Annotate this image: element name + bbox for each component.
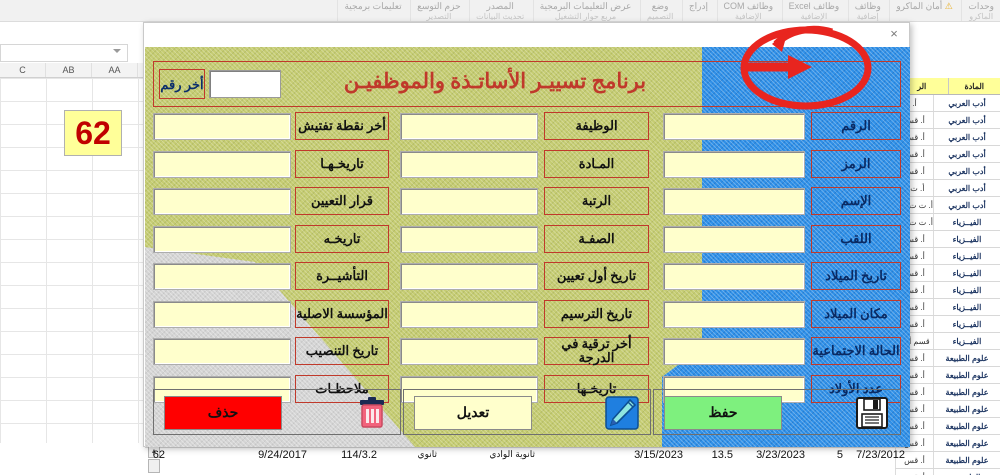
table-row[interactable]: أدب العربيأ. قس [895,112,1000,129]
cell-subject: علوم الطبيعة [933,350,1000,366]
cell-subject: الفيــزياء [933,316,1000,332]
excel-right-columns[interactable]: المادة الر أدب العربيأ.أدب العربيأ. قسأد… [895,78,1000,475]
input-الوظيفة[interactable] [400,113,538,140]
input-تاريخ-أول-تعيين[interactable] [400,263,538,290]
cell-subject: الفيــزياء [933,299,1000,315]
ribbon-group[interactable]: المصدر تحديث البيانات [469,0,530,22]
input-الرمز[interactable] [663,151,805,178]
table-row[interactable]: الفيــزياءقسم أول [895,333,1000,350]
cell-subject: أدب العربي [933,197,1000,213]
dialog-form-area: برنامج تسييـر الأساتـذة والموظفيـن أخر ر… [145,47,910,447]
warning-icon: ⚠ [945,1,953,11]
table-row[interactable]: الفيــزياءأ. قس [895,282,1000,299]
table-row[interactable]: الفيــزياءأ. قس [895,265,1000,282]
ribbon-label: عرض التعليمات البرمجية [540,1,632,12]
ribbon-sublabel: تحديث البيانات [476,12,524,22]
chevron-down-icon[interactable] [113,49,121,53]
ribbon-group[interactable]: وحدات الماكرو [961,0,1000,22]
ribbon-label: وضع [647,1,673,12]
ribbon-sublabel: الماكرو [968,12,994,22]
input-مكان-الميلاد[interactable] [663,301,805,328]
form-row: الرقمالوظيفةأخر نقطة تفتيش [145,109,910,147]
input-أخر-نقطة-تفتيش[interactable] [153,113,291,140]
label-تاريخ-أول-تعيين: تاريخ أول تعيين [544,262,649,290]
input-قرار-التعيين[interactable] [153,188,291,215]
label-مكان-الميلاد: مكان الميلاد [811,300,901,328]
ribbon-label: وظائف COM [724,1,774,12]
column-header-subject: المادة [948,78,1000,94]
label-الرتبة: الرتبة [544,187,649,215]
ribbon-sublabel: مربع حوار التشغيل [540,12,632,22]
table-row[interactable]: أدب العربيأ. ت د [895,180,1000,197]
cell-subject: أدب العربي [933,112,1000,128]
page-title: برنامج تسييـر الأساتـذة والموظفيـن [260,69,730,94]
table-row[interactable]: الفيــزياءأ. قس [895,248,1000,265]
cell-subject: الفيــزياء [933,214,1000,230]
cell-subject: أدب العربي [933,129,1000,145]
cell-subject: الفيــزياء [933,248,1000,264]
label-التأشيــرة: التأشيــرة [295,262,389,290]
table-row[interactable]: أدب العربيأ. ت ت قس [895,197,1000,214]
label-الصفـة: الصفـة [544,225,649,253]
ribbon-label: وظائف [855,1,881,12]
cell-subject: أدب العربي [933,95,1000,111]
table-row[interactable]: علوم الطبيعةأ. قس [895,418,1000,435]
cell-subject: علوم الطبيعة [933,401,1000,417]
close-icon[interactable]: × [885,26,903,42]
edit-panel: تعديل [403,389,651,435]
column-header[interactable]: AA [92,63,138,77]
input-الصفـة[interactable] [400,226,538,253]
highlighted-cell[interactable]: 62 [64,110,122,156]
label-تاريخ-الميلاد: تاريخ الميلاد [811,262,901,290]
input-الرتبة[interactable] [400,188,538,215]
cell-subject: علوم الطبيعة [933,435,1000,451]
label-تاريخـهـا: تاريخـهـا [295,150,389,178]
employee-management-dialog: × برنامج تسييـر الأساتـذة والموظفيـن أخر… [143,22,910,447]
label-الإسم: الإسم [811,187,901,215]
ribbon-sublabel: الإضافية [724,12,774,22]
label-الرقم: الرقم [811,112,901,140]
last-number-label: أخر رقم [159,69,205,99]
cell-code: 114/3.2 [341,449,377,461]
delete-button[interactable]: حذف [164,396,282,430]
ribbon-label-with-warning: ⚠ أمان الماكرو [896,1,953,12]
ribbon-sublabel: إضافية [855,12,881,22]
input-الحالة-الاجتماعية[interactable] [663,338,805,365]
table-row[interactable]: علوم الطبيعةأ. قس [895,435,1000,452]
ribbon-sublabel: التصميم [647,12,673,22]
cell-subject: أدب العربي [933,163,1000,179]
edit-button[interactable]: تعديل [414,396,532,430]
cell-subject: علوم الطبيعة [933,418,1000,434]
table-row[interactable]: علوم الطبيعةأ. قس [895,367,1000,384]
ribbon-label: حزم التوسع [417,1,461,12]
ribbon-label: وحدات [968,1,994,12]
cell-subject: الفيــزياء [933,231,1000,247]
delete-panel: حذف [153,389,401,435]
ribbon-label: وظائف Excel [789,1,840,12]
table-row[interactable]: علوم الطبيعةأ. قس [895,401,1000,418]
cell-code: أ. قس [895,469,933,475]
cell-subject: الفيــزياء [933,333,1000,349]
label-اللقب: اللقب [811,225,901,253]
input-الإسم[interactable] [663,188,805,215]
trash-icon[interactable] [354,395,390,431]
ribbon-group[interactable]: وظائف COM الإضافية [717,0,780,22]
cell-score: 13.5 [712,449,733,461]
form-row: تاريخ الميلادتاريخ أول تعيينالتأشيــرة [145,259,910,297]
label-المـادة: المـادة [544,150,649,178]
cell-id: 62 [153,449,165,461]
label-تاريخ-الترسيم: تاريخ الترسيم [544,300,649,328]
ribbon-group[interactable]: عرض التعليمات البرمجية مربع حوار التشغيل [533,0,638,22]
label-أخر-نقطة-تفتيش: أخر نقطة تفتيش [295,112,389,140]
ribbon-group[interactable]: إدراج [682,0,714,22]
table-body: أدب العربيأ.أدب العربيأ. قسأدب العربيأ. … [895,95,1000,475]
cell-subject: علوم الطبيعة [933,384,1000,400]
save-button[interactable]: حفظ [664,396,782,430]
excel-name-box[interactable] [0,44,128,62]
excel-ribbon: وحدات الماكرو ⚠ أمان الماكرو وظائف إضافي… [0,0,1000,22]
form-row: مكان الميلادتاريخ الترسيمالمؤسسة الاصلية [145,297,910,335]
ribbon-group[interactable]: وضع التصميم [640,0,679,22]
ribbon-sublabel: التصدير [417,12,461,22]
table-row[interactable]: الفيــزياءأ. قس [895,299,1000,316]
input-تاريخ-الميلاد[interactable] [663,263,805,290]
table-row[interactable]: أدب العربيأ. [895,95,1000,112]
cell-date-2: 3/15/2023 [634,449,683,461]
cell-date-1: 9/24/2017 [258,449,307,461]
ribbon-label: تعليمات برمجية [344,1,401,12]
ribbon-group[interactable]: وظائف Excel الإضافية [782,0,846,22]
excel-bottom-row[interactable]: 62 9/24/2017 114/3.2 ثانوي ثانوية الوادي… [145,447,905,469]
label-تاريخـه: تاريخـه [295,225,389,253]
cell-date-3: 3/23/2023 [756,449,805,461]
label-الحالة-الاجتماعية: الحالة الاجتماعية [811,337,901,365]
table-row[interactable]: الفيــزياءأ. قس [895,316,1000,333]
ribbon-label: إدراج [689,1,708,12]
column-header[interactable]: AB [46,63,92,77]
ribbon-group[interactable]: تعليمات برمجية [337,0,407,22]
table-row[interactable]: أدب العربيأ. قس [895,129,1000,146]
column-header[interactable]: C [0,63,46,77]
input-التأشيــرة[interactable] [153,263,291,290]
cell-subject: علوم الطبيعة [933,452,1000,468]
dialog-title-bar: × [144,23,909,47]
cell-count: 5 [837,449,843,461]
input-اللقب[interactable] [663,226,805,253]
label-تاريخ-التنصيب: تاريخ التنصيب [295,337,389,365]
cell-subject: علوم الطبيعة [933,367,1000,383]
table-header-row: المادة الر [895,78,1000,95]
input-تاريخـهـا[interactable] [153,151,291,178]
label-الرمز: الرمز [811,150,901,178]
table-row[interactable]: الفلسفةأ. قس [895,469,1000,475]
last-number-input[interactable] [209,70,281,98]
label-المؤسسة-الاصلية: المؤسسة الاصلية [295,300,389,328]
input-أخر-ترقية-في-الدرجة[interactable] [400,338,538,365]
form-row: الحالة الاجتماعيةأخر ترقية في الدرجةتاري… [145,334,910,372]
cell-school: ثانوية الوادي [489,449,535,460]
ribbon-group[interactable]: ⚠ أمان الماكرو [889,0,959,22]
form-row: الإسمالرتبةقرار التعيين [145,184,910,222]
table-row[interactable]: علوم الطبيعةأ. قس [895,452,1000,469]
table-row[interactable]: علوم الطبيعةأ. قس [895,350,1000,367]
ribbon-group[interactable]: وظائف إضافية [848,0,887,22]
cell-subject: أدب العربي [933,146,1000,162]
save-panel: حفظ [653,389,901,435]
form-row: اللقبالصفـةتاريخـه [145,222,910,260]
ribbon-label: المصدر [476,1,524,12]
table-row[interactable]: الفيــزياءأ. قس [895,231,1000,248]
floppy-disk-icon[interactable] [854,395,890,431]
ribbon-label: أمان الماكرو [896,1,942,11]
label-أخر-ترقية-في-الدرجة: أخر ترقية في الدرجة [544,337,649,365]
pencil-icon[interactable] [604,395,640,431]
input-تاريخـه[interactable] [153,226,291,253]
cell-subject: الفيــزياء [933,282,1000,298]
form-row: الرمزالمـادةتاريخـهـا [145,147,910,185]
table-row[interactable]: علوم الطبيعةأ. قس [895,384,1000,401]
cell-subject: الفلسفة [933,469,1000,475]
input-المـادة[interactable] [400,151,538,178]
input-تاريخ-الترسيم[interactable] [400,301,538,328]
cell-date-4: 7/23/2012 [856,449,905,461]
input-الرقم[interactable] [663,113,805,140]
label-قرار-التعيين: قرار التعيين [295,187,389,215]
ribbon-group[interactable]: حزم التوسع التصدير [410,0,467,22]
ribbon-sublabel: الإضافية [789,12,840,22]
table-row[interactable]: أدب العربيأ. قس [895,163,1000,180]
input-المؤسسة-الاصلية[interactable] [153,301,291,328]
cell-subject: أدب العربي [933,180,1000,196]
cell-level: ثانوي [418,449,437,460]
cell-subject: الفيــزياء [933,265,1000,281]
form-rows: الرقمالوظيفةأخر نقطة تفتيشالرمزالمـادةتا… [145,109,910,409]
label-الوظيفة: الوظيفة [544,112,649,140]
input-تاريخ-التنصيب[interactable] [153,338,291,365]
table-row[interactable]: الفيــزياءأ. ت ت قس [895,214,1000,231]
footer-toolbar: حذف تعديل [153,389,901,435]
table-row[interactable]: أدب العربيأ. قس [895,146,1000,163]
